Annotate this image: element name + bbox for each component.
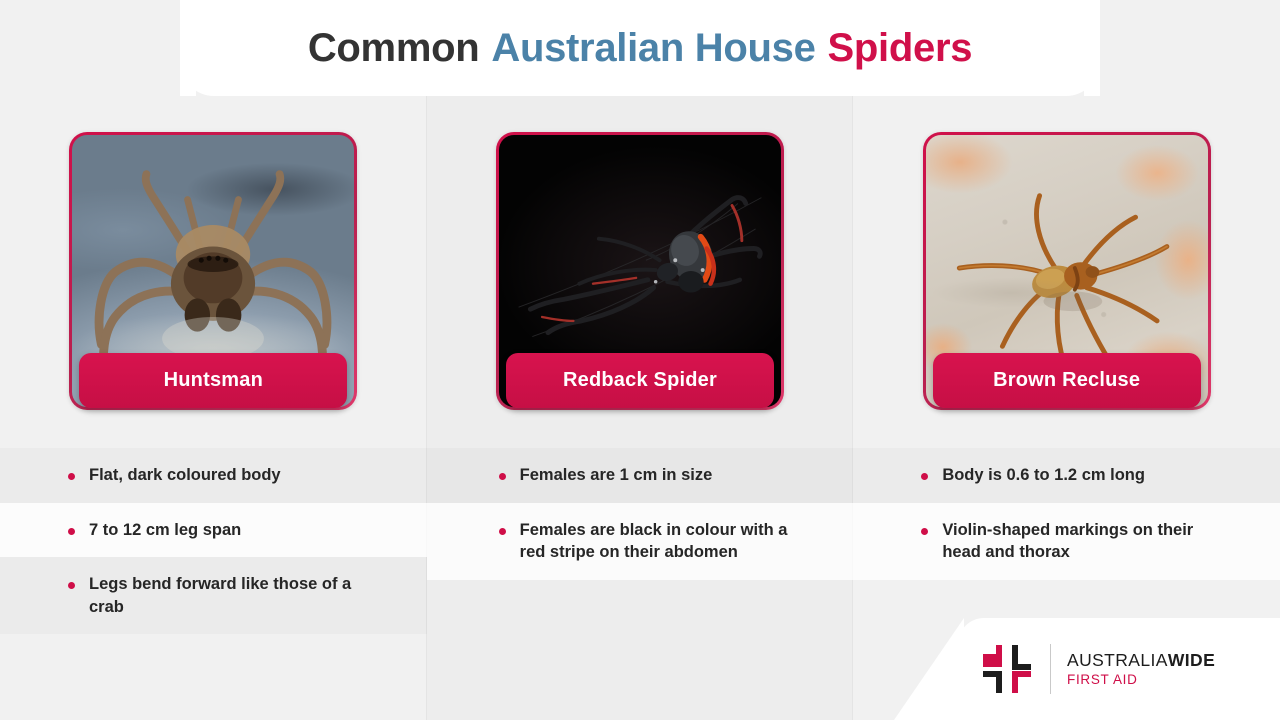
logo-wordmark: AUSTRALIAWIDE FIRST AID (1067, 651, 1215, 688)
logo-word-wide: WIDE (1168, 650, 1215, 670)
fact-text: Body is 0.6 to 1.2 cm long (942, 464, 1145, 487)
logo-line-australiawide: AUSTRALIAWIDE (1067, 651, 1215, 671)
bullet-icon (68, 582, 75, 589)
logo-line-first-aid: FIRST AID (1067, 672, 1215, 687)
spider-name-banner-huntsman: Huntsman (79, 353, 347, 408)
fact-text: 7 to 12 cm leg span (89, 519, 241, 542)
fact-item: 7 to 12 cm leg span (0, 503, 427, 558)
bullet-icon (921, 473, 928, 480)
fact-text: Flat, dark coloured body (89, 464, 281, 487)
fact-item: Females are 1 cm in size (427, 448, 854, 503)
title-segment-common: Common (308, 26, 480, 71)
fact-item: Females are black in colour with a red s… (427, 503, 854, 580)
fact-item: Body is 0.6 to 1.2 cm long (853, 448, 1280, 503)
infographic-root: Common Australian House Spiders (0, 0, 1280, 720)
title-segment-australian-house: Australian House (491, 26, 815, 71)
brand-logo: AUSTRALIAWIDE FIRST AID (980, 642, 1215, 696)
column-huntsman: Huntsman Flat, dark coloured body 7 to 1… (0, 96, 427, 720)
title-segment-spiders: Spiders (828, 26, 973, 71)
column-redback: Redback Spider Females are 1 cm in size … (427, 96, 854, 720)
fact-text: Violin-shaped markings on their head and… (942, 519, 1232, 564)
brand-logo-plate: AUSTRALIAWIDE FIRST AID (958, 618, 1280, 720)
bullet-icon (921, 528, 928, 535)
fact-text: Females are black in colour with a red s… (520, 519, 810, 564)
spider-name-banner-brown-recluse: Brown Recluse (933, 353, 1201, 408)
fact-text: Females are 1 cm in size (520, 464, 713, 487)
australia-wide-cross-icon (980, 642, 1034, 696)
fact-item: Legs bend forward like those of a crab (0, 557, 427, 634)
facts-list-huntsman: Flat, dark coloured body 7 to 12 cm leg … (0, 448, 427, 634)
bullet-icon (68, 473, 75, 480)
logo-divider (1050, 644, 1051, 694)
page-title: Common Australian House Spiders (180, 0, 1100, 96)
logo-word-australia: AUSTRALIA (1067, 650, 1168, 670)
facts-list-brown-recluse: Body is 0.6 to 1.2 cm long Violin-shaped… (853, 448, 1280, 580)
bullet-icon (68, 528, 75, 535)
fact-item: Flat, dark coloured body (0, 448, 427, 503)
bullet-icon (499, 528, 506, 535)
fact-item: Violin-shaped markings on their head and… (853, 503, 1280, 580)
facts-list-redback: Females are 1 cm in size Females are bla… (427, 448, 854, 580)
bullet-icon (499, 473, 506, 480)
spider-name-banner-redback: Redback Spider (506, 353, 774, 408)
fact-text: Legs bend forward like those of a crab (89, 573, 379, 618)
